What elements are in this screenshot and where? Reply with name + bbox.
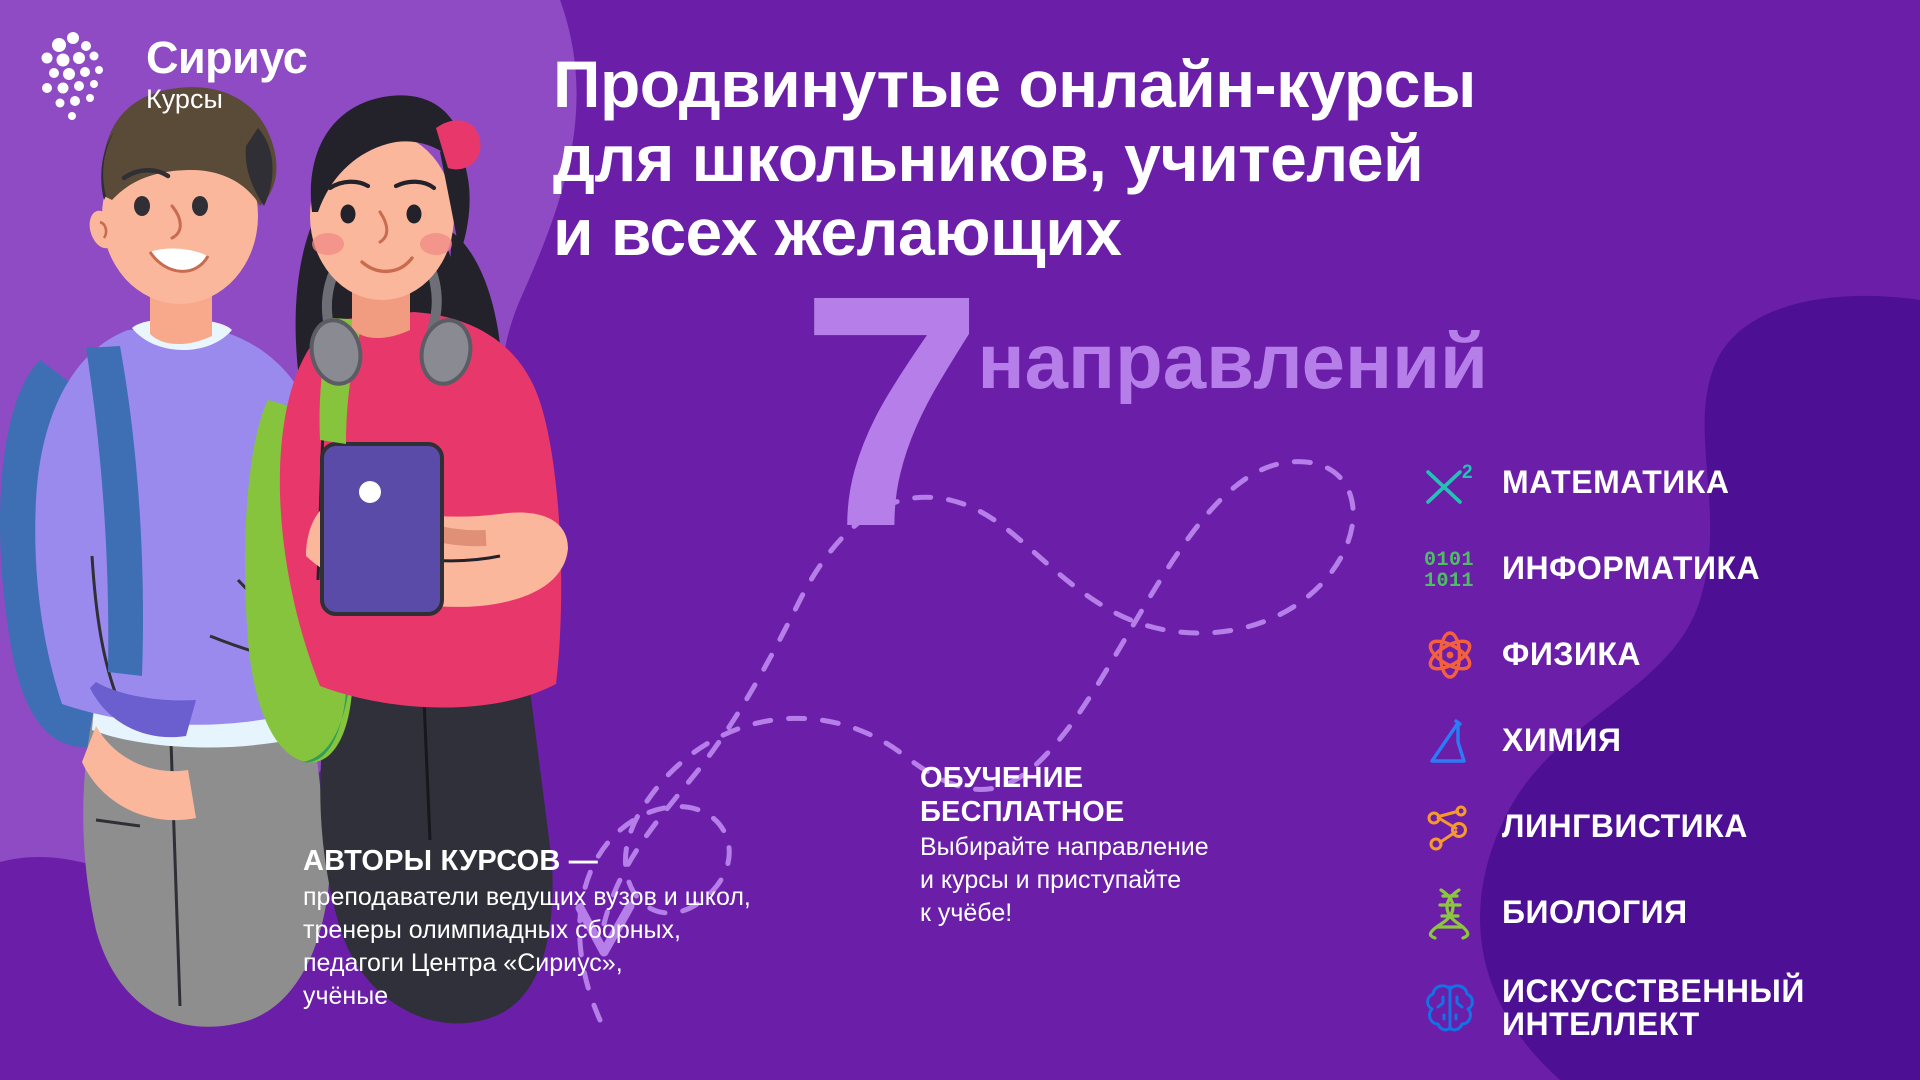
- subject-item-chemistry[interactable]: ХИМИЯ: [1420, 698, 1805, 784]
- authors-body: преподаватели ведущих вузов и школ, трен…: [303, 881, 751, 1013]
- brain-icon: [1420, 982, 1480, 1034]
- subject-item-informatics[interactable]: 0101 1011 ИНФОРМАТИКА: [1420, 526, 1805, 612]
- free-tuition-block: ОБУЧЕНИЕ БЕСПЛАТНОЕ Выбирайте направлени…: [920, 762, 1209, 930]
- headline-line-3: и всех желающих: [553, 196, 1683, 270]
- logo-subtitle: Курсы: [146, 86, 307, 113]
- subject-label: ИСКУССТВЕННЫЙ ИНТЕЛЛЕКТ: [1502, 975, 1805, 1042]
- subject-item-biology[interactable]: БИОЛОГИЯ: [1420, 870, 1805, 956]
- authors-info-block: АВТОРЫ КУРСОВ — преподаватели ведущих ву…: [303, 845, 751, 1013]
- subject-label: ХИМИЯ: [1502, 724, 1622, 757]
- promo-banner: Сириус Курсы Продвинутые онлайн-курсы дл…: [0, 0, 1920, 1080]
- free-body: Выбирайте направление и курсы и приступа…: [920, 831, 1209, 930]
- nodes-graph-icon: [1420, 801, 1480, 853]
- sirius-dots-icon: [36, 26, 132, 122]
- directions-word: направлений: [978, 322, 1488, 400]
- flask-icon: [1420, 715, 1480, 767]
- headline-line-1: Продвинутые онлайн-курсы: [553, 48, 1683, 122]
- subject-list: 2 МАТЕМАТИКА 0101 1011 ИНФОРМАТИКА: [1420, 440, 1805, 1060]
- headline-line-2: для школьников, учителей: [553, 122, 1683, 196]
- svg-text:0101: 0101: [1424, 549, 1474, 572]
- free-title: ОБУЧЕНИЕ БЕСПЛАТНОЕ: [920, 762, 1209, 829]
- subject-item-math[interactable]: 2 МАТЕМАТИКА: [1420, 440, 1805, 526]
- subject-item-linguistics[interactable]: ЛИНГВИСТИКА: [1420, 784, 1805, 870]
- subject-item-ai[interactable]: ИСКУССТВЕННЫЙ ИНТЕЛЛЕКТ: [1420, 956, 1805, 1060]
- binary-code-icon: 0101 1011: [1420, 543, 1480, 595]
- dna-helix-icon: [1420, 887, 1480, 939]
- subject-label: МАТЕМАТИКА: [1502, 466, 1729, 499]
- logo-title: Сириус: [146, 35, 307, 80]
- subject-label: ЛИНГВИСТИКА: [1502, 810, 1748, 843]
- directions-count: 7 направлений: [800, 300, 1488, 539]
- directions-number: 7: [800, 282, 974, 539]
- sirius-logo[interactable]: Сириус Курсы: [36, 26, 307, 122]
- subject-label: БИОЛОГИЯ: [1502, 896, 1688, 929]
- subject-label: ФИЗИКА: [1502, 638, 1641, 671]
- subject-label: ИНФОРМАТИКА: [1502, 552, 1760, 585]
- authors-title: АВТОРЫ КУРСОВ —: [303, 845, 751, 879]
- subject-item-physics[interactable]: ФИЗИКА: [1420, 612, 1805, 698]
- svg-text:2: 2: [1462, 462, 1473, 483]
- atom-icon: [1420, 629, 1480, 681]
- svg-text:1011: 1011: [1424, 570, 1474, 592]
- x-squared-icon: 2: [1420, 457, 1480, 509]
- page-title: Продвинутые онлайн-курсы для школьников,…: [553, 48, 1683, 270]
